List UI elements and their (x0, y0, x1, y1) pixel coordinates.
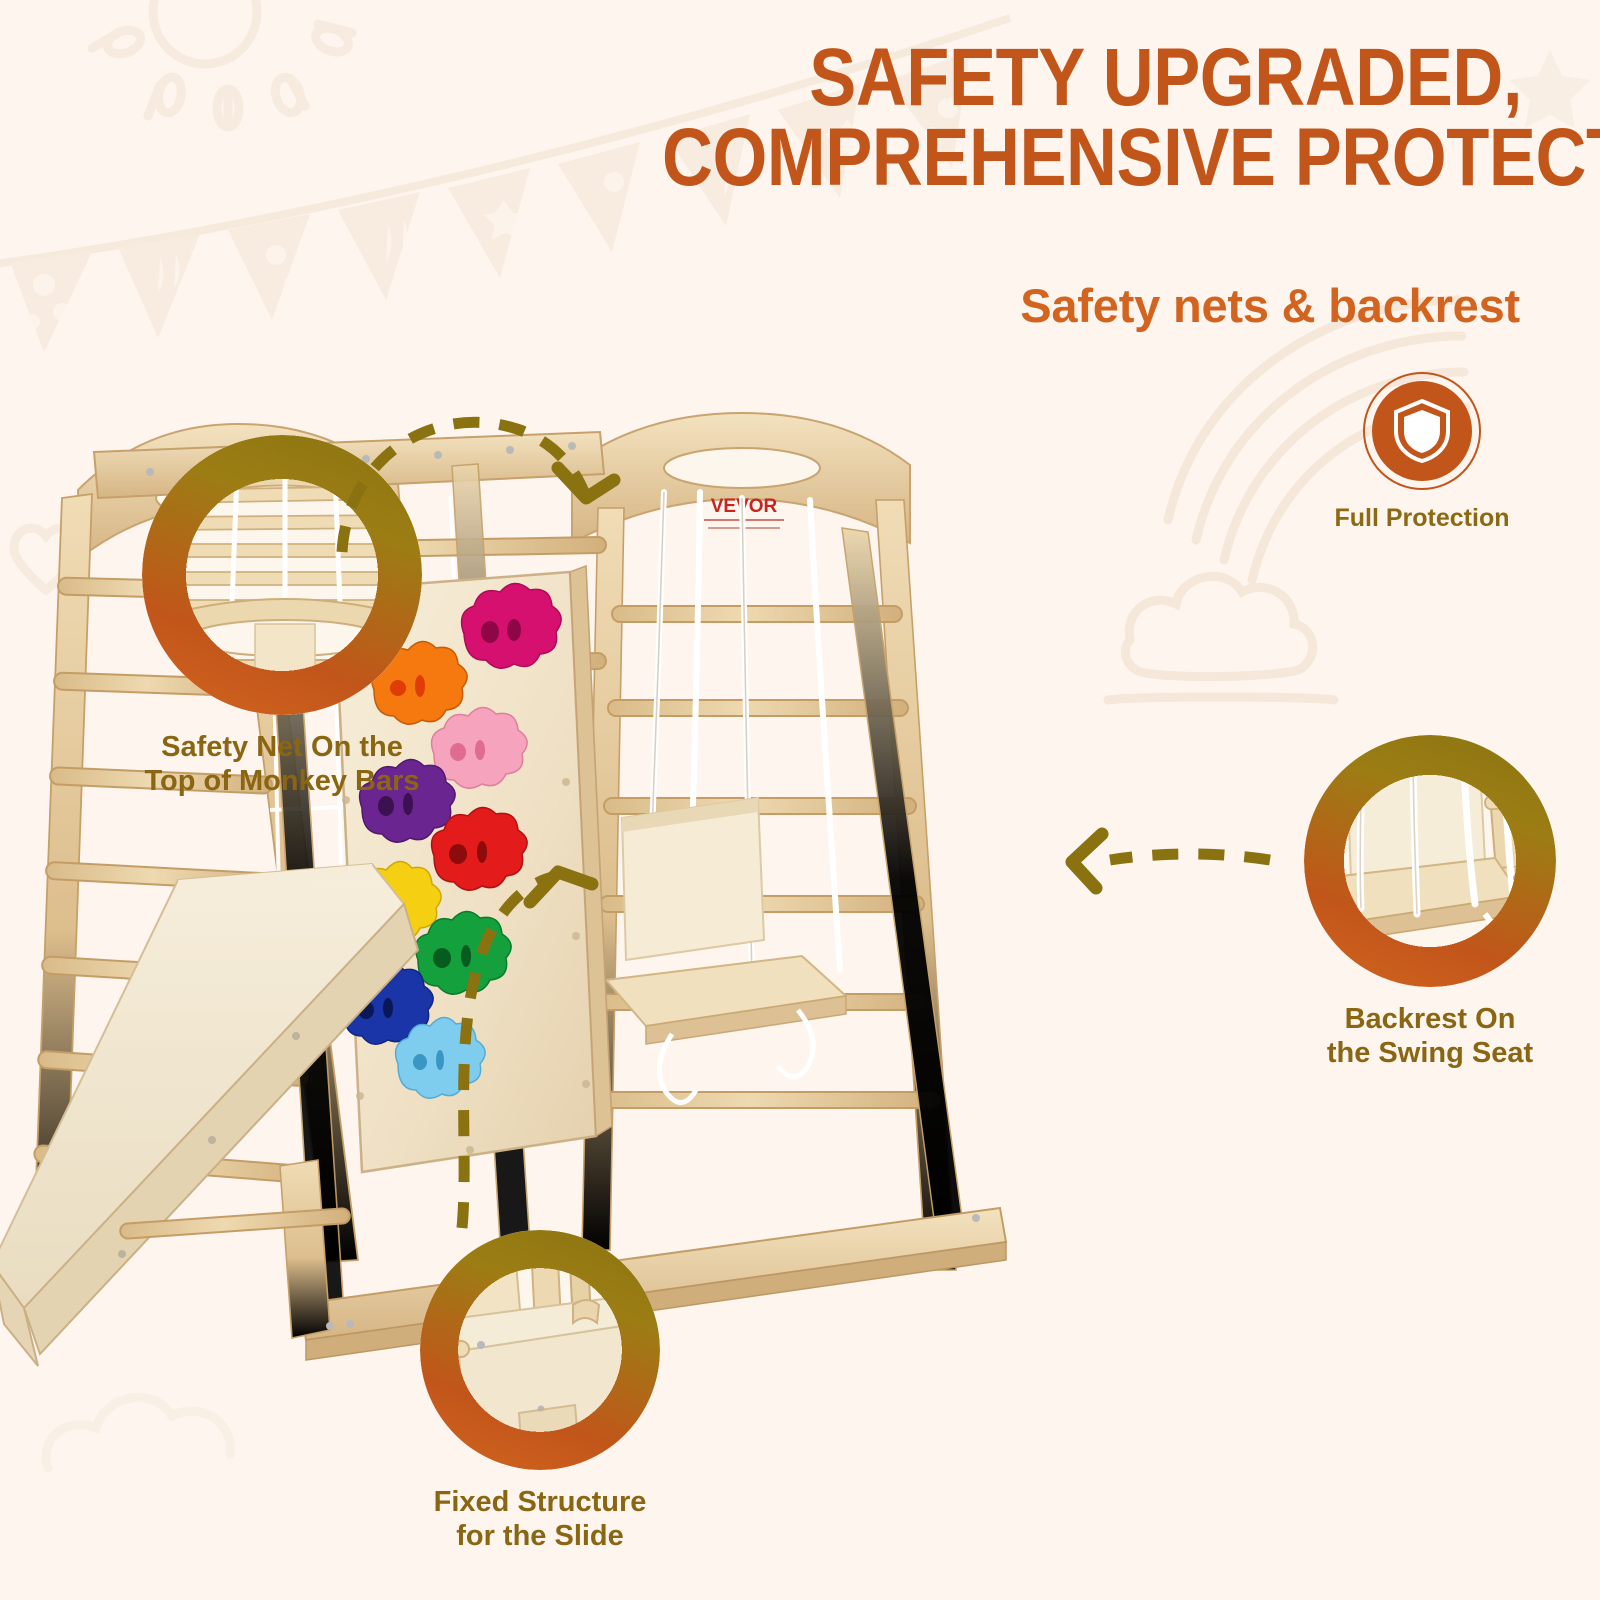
callout-swing-backrest: Backrest On the Swing Seat (1272, 735, 1588, 1071)
callout-brand-label: VEVOR (259, 671, 312, 688)
page-subtitle: Safety nets & backrest (1020, 278, 1520, 333)
full-protection-badge: Full Protection (1322, 372, 1522, 533)
badge-disc (1372, 381, 1472, 481)
callout-circle-swing-backrest (1304, 735, 1556, 987)
callout-photo-safety-net: VEVOR (145, 438, 419, 712)
badge-label: Full Protection (1322, 504, 1522, 533)
headline-line-1: SAFETY UPGRADED, (809, 32, 1522, 123)
callout-label-safety-net: Safety Net On the Top of Monkey Bars (92, 731, 472, 799)
callout-circle-fixed-slide (420, 1230, 660, 1470)
callout-label-fixed-slide: Fixed Structure for the Slide (370, 1486, 710, 1554)
callout-circle-safety-net: VEVOR (142, 435, 422, 715)
callout-photo-swing-backrest (1307, 738, 1553, 984)
callout-fixed-slide: Fixed Structure for the Slide (370, 1230, 710, 1554)
headline-line-2: COMPREHENSIVE PROTECTION (662, 118, 1522, 198)
callout-label-swing-backrest: Backrest On the Swing Seat (1272, 1003, 1588, 1071)
page-title: SAFETY UPGRADED, COMPREHENSIVE PROTECTIO… (662, 38, 1522, 197)
callout-safety-net: VEVOR Safety Net On the Top of Monkey Ba… (92, 435, 472, 799)
badge-outer-ring (1363, 372, 1481, 490)
shield-icon (1391, 397, 1453, 465)
callout-photo-fixed-slide (423, 1233, 657, 1467)
